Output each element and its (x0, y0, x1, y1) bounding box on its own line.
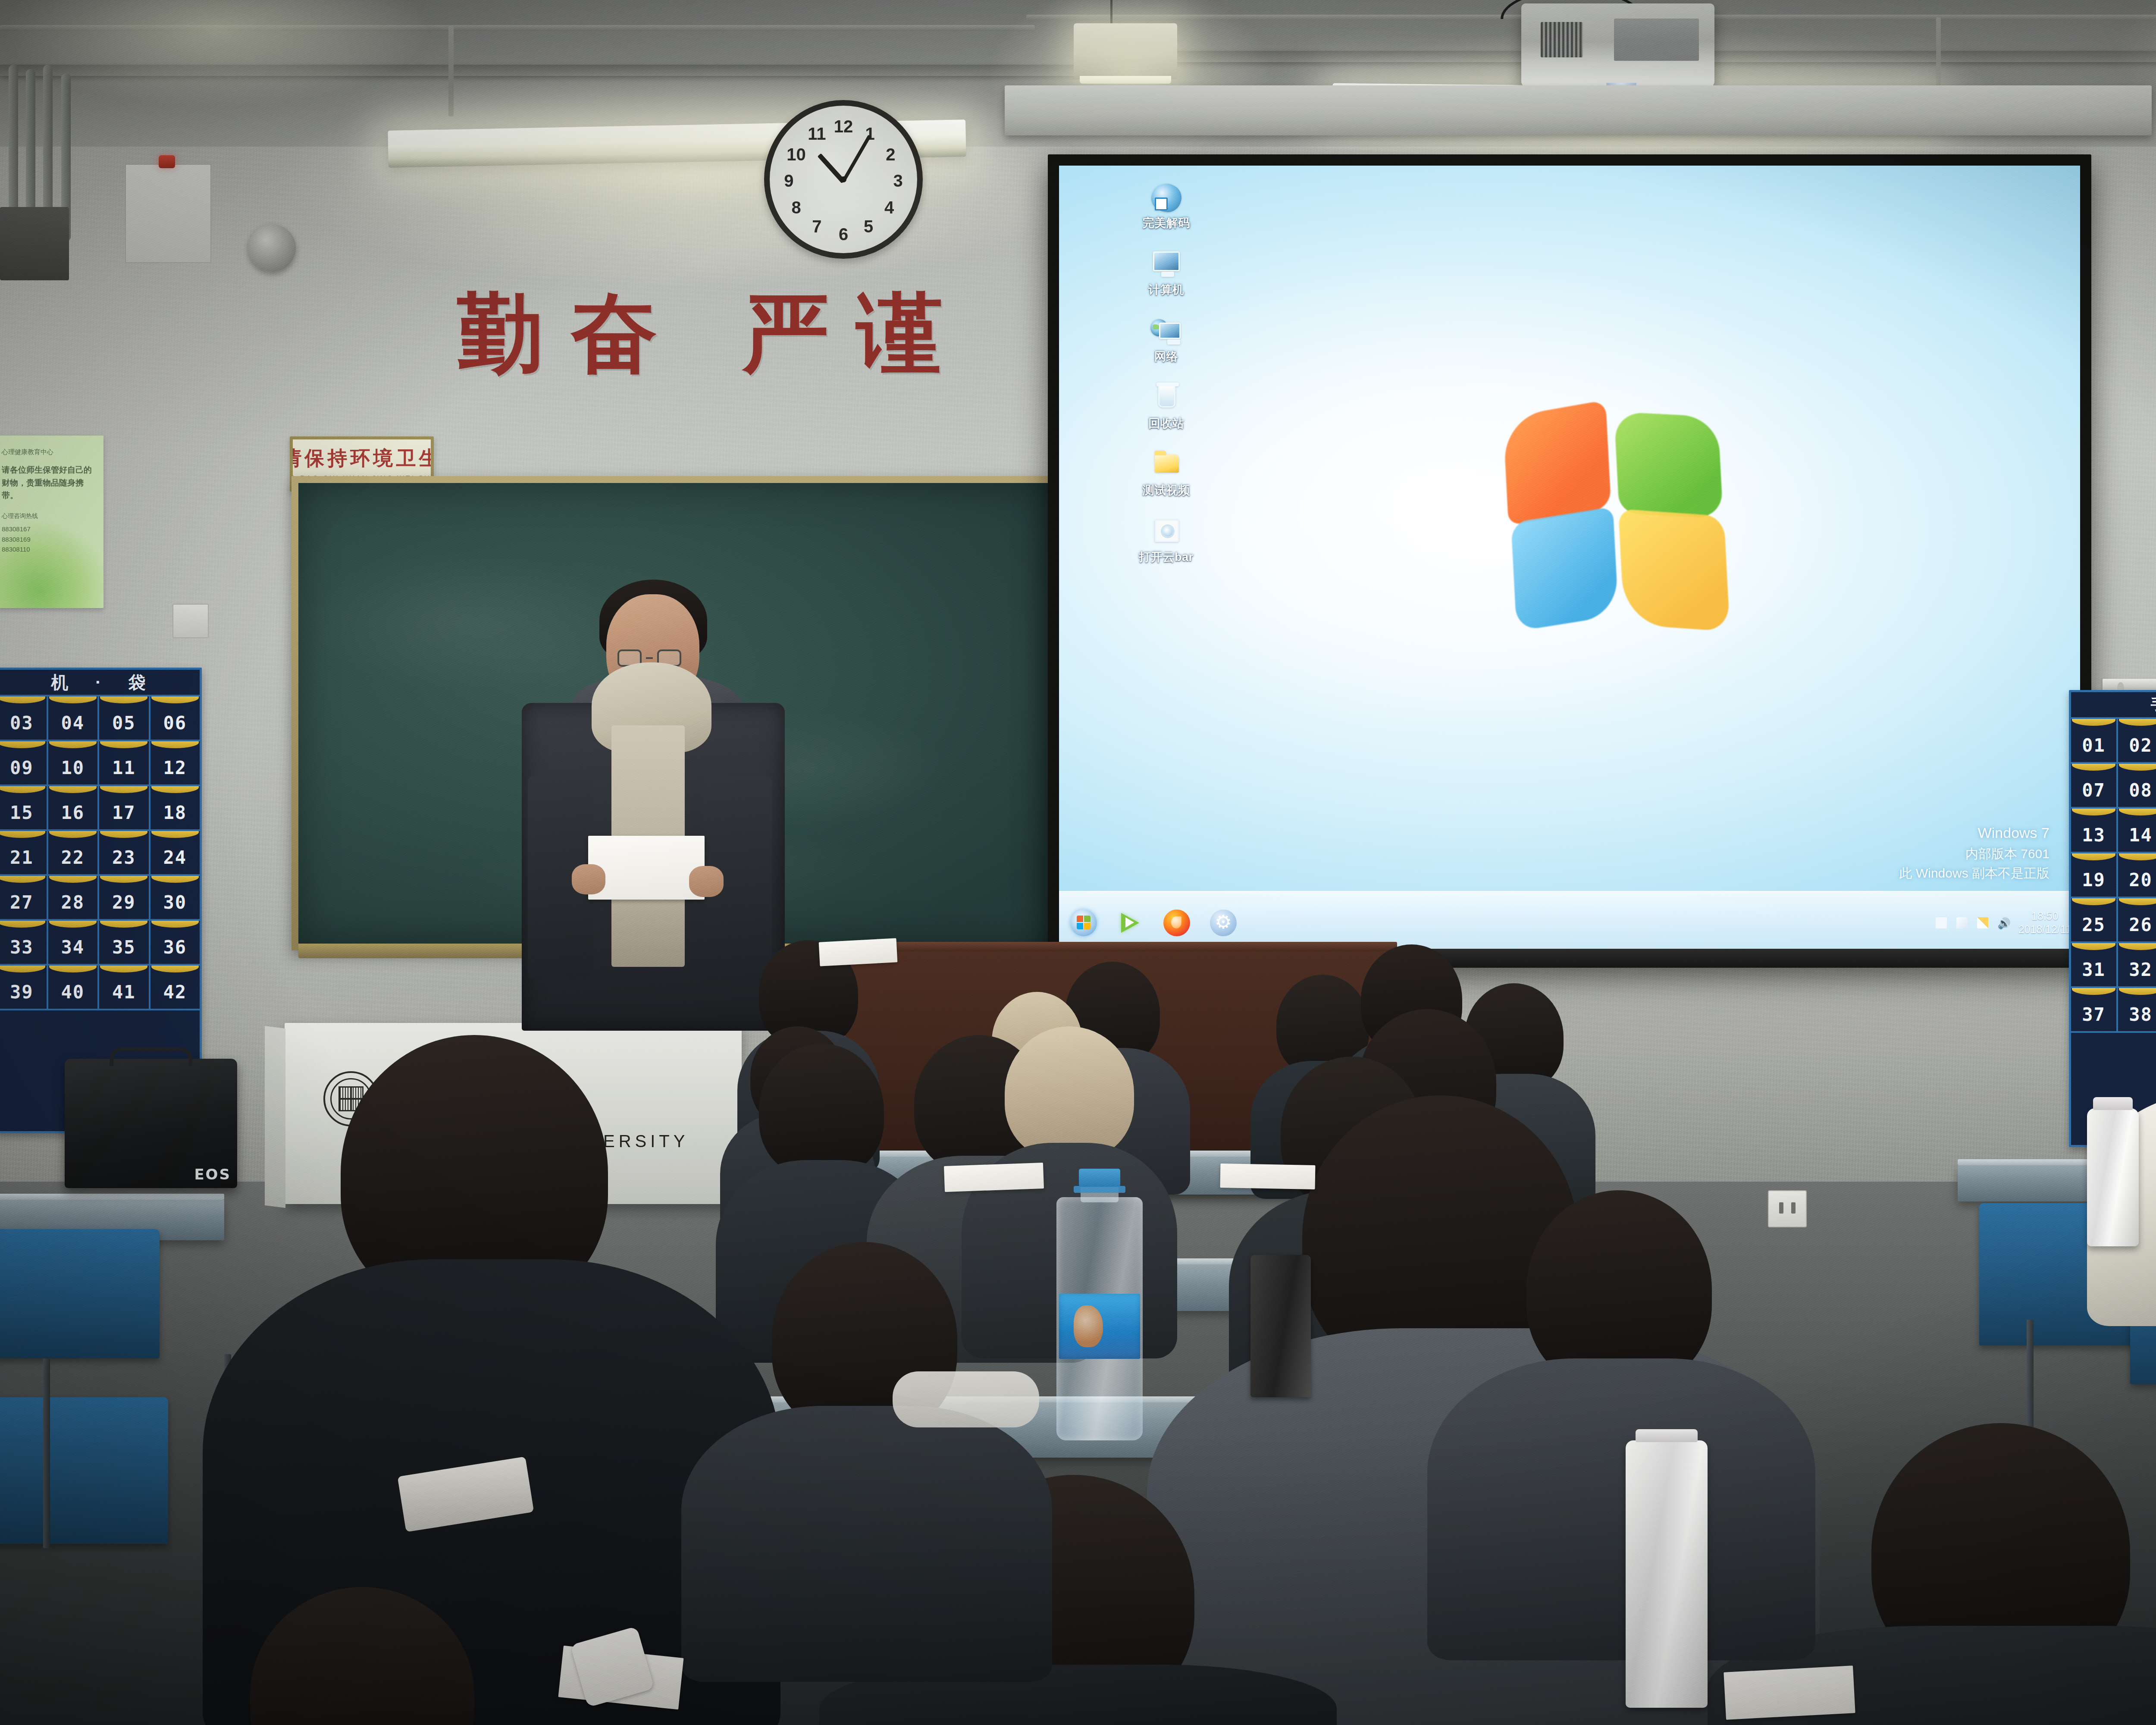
pocket-row: 15161718 (0, 786, 200, 831)
pocket-number: 27 (10, 892, 34, 913)
wall-junction-box (125, 164, 211, 263)
bottle-label (1059, 1294, 1140, 1359)
clock-num-8: 8 (791, 198, 801, 217)
camera-bag-brand: EOS (194, 1166, 231, 1183)
pendant-rod-left (1110, 0, 1112, 27)
phone-pocket[interactable]: 10 (48, 741, 100, 786)
pocket-number: 39 (10, 982, 34, 1003)
pocket-number: 33 (10, 937, 34, 958)
projection-screen-frame[interactable]: 完美解码 计算机 网络 回收站 (1048, 154, 2091, 965)
settings-gear-icon[interactable] (1210, 910, 1237, 936)
pocket-number: 31 (2082, 959, 2106, 980)
clock-num-12: 12 (834, 116, 853, 136)
desktop-icon-label: 打开云bar (1079, 551, 1253, 564)
clock-num-9: 9 (784, 171, 793, 191)
hygiene-sign-chinese: 请保持环境卫生 (290, 445, 434, 472)
pocket-number: 05 (112, 712, 136, 734)
phone-pocket[interactable]: 40 (48, 966, 100, 1010)
poster-phone-2: 88308169 (2, 534, 97, 544)
phone-pocket[interactable]: 08 (2118, 764, 2156, 809)
phone-pocket[interactable]: 20 (2118, 853, 2156, 898)
firefox-icon[interactable] (1163, 910, 1190, 936)
phone-pocket[interactable]: 19 (2071, 853, 2118, 898)
pocket-number: 01 (2082, 735, 2106, 756)
pocket-number: 34 (61, 937, 85, 958)
action-center-flag-icon[interactable] (1956, 917, 1968, 928)
phone-pocket[interactable]: 39 (0, 966, 48, 1010)
body (1427, 1358, 1815, 1660)
ceiling-conduit-a (0, 25, 1035, 31)
pocket-number: 02 (2129, 735, 2153, 756)
watermark-line-1: Windows 7 (1899, 822, 2049, 844)
pocket-number: 11 (112, 757, 136, 778)
pocket-number: 22 (61, 847, 85, 868)
taskbar-system-tray[interactable]: 18:50 2018/12/11 (1936, 910, 2080, 937)
wall-socket-plate-left (172, 604, 209, 638)
pocket-number: 19 (2082, 869, 2106, 891)
phone-pocket[interactable]: 42 (150, 966, 200, 1010)
pocket-row: 313233343536 (2071, 943, 2156, 988)
pocket-row: 09101112 (0, 741, 200, 786)
phone-pocket[interactable]: 30 (150, 876, 200, 921)
screen-valance (1005, 85, 2152, 135)
earphone-cable (893, 1371, 1039, 1427)
pocket-row: 252627282930 (2071, 898, 2156, 943)
watermark-line-3: 此 Windows 副本不是正版 (1899, 863, 2049, 883)
pocket-row: 03040506 (0, 696, 200, 741)
pocket-row: 131415161718 (2071, 809, 2156, 853)
app-shortcut-icon (1150, 517, 1183, 547)
paper-on-desk-a (944, 1163, 1044, 1192)
windows-desktop[interactable]: 完美解码 计算机 网络 回收站 (1059, 166, 2080, 954)
phone-pocket[interactable]: 11 (99, 741, 150, 786)
poster-body: 请各位师生保管好自己的财物，贵重物品随身携带。 (2, 464, 97, 502)
poster-phone-3: 88308110 (2, 544, 97, 554)
pocket-number: 04 (61, 712, 85, 734)
phone-pocket[interactable]: 18 (150, 786, 200, 831)
pocket-number: 17 (112, 802, 136, 823)
windows-logo-pane-green (1614, 411, 1723, 518)
pocket-number: 41 (112, 982, 136, 1003)
pocket-number: 10 (61, 757, 85, 778)
pocket-number: 06 (163, 712, 187, 734)
desktop-icon-column: 完美解码 计算机 网络 回收站 (1079, 183, 1253, 584)
phone-pocket[interactable]: 33 (0, 921, 48, 966)
phone-pocket[interactable]: 04 (48, 696, 100, 741)
ceiling-speaker (248, 224, 296, 272)
media-player-icon[interactable] (1117, 910, 1144, 936)
pocket-number: 32 (2129, 959, 2153, 980)
clock-num-5: 5 (864, 217, 873, 236)
phone-pocket[interactable]: 12 (150, 741, 200, 786)
pocket-number: 13 (2082, 825, 2106, 846)
pocket-row: 27282930 (0, 876, 200, 921)
phone-pocket[interactable]: 03 (0, 696, 48, 741)
desktop-icon-test-video-folder[interactable]: 测试视频 (1079, 450, 1253, 497)
phone-pocket[interactable]: 22 (48, 831, 100, 876)
pocket-row: 010203040506 (2071, 719, 2156, 764)
projector-port-panel (1614, 19, 1699, 61)
phone-pocket[interactable]: 26 (2118, 898, 2156, 943)
phone-pocket[interactable]: 07 (2071, 764, 2118, 809)
pocket-number: 23 (112, 847, 136, 868)
camera-bag: EOS (65, 1059, 237, 1188)
pocket-board-right-hook-rail (2103, 679, 2156, 691)
clock-time: 18:50 (2018, 910, 2071, 923)
clock-center-pin (840, 176, 846, 182)
pendant-light-left (1074, 23, 1177, 79)
phone-pocket[interactable]: 32 (2118, 943, 2156, 988)
head (1005, 1026, 1134, 1160)
phone-pocket[interactable]: 17 (99, 786, 150, 831)
thermos-bottle-front (1626, 1440, 1708, 1708)
bottle-cap (1079, 1169, 1120, 1187)
clock-num-3: 3 (893, 171, 903, 191)
wall-slogan: 勤奋 严谨 (457, 276, 970, 392)
chair-back-left-b (0, 1397, 168, 1544)
pocket-number: 36 (163, 937, 187, 958)
start-orb-icon[interactable] (1070, 910, 1097, 936)
audience-member-r1-right (1457, 1190, 1785, 1656)
water-bottle-center (1056, 1169, 1143, 1440)
pocket-board-right-rows: 0102030405060708091011121314151617181920… (2071, 719, 2156, 1033)
ceiling-beam-left (0, 65, 1078, 76)
desktop-icon-label: 回收站 (1079, 417, 1253, 430)
pocket-number: 16 (61, 802, 85, 823)
windows-logo (1502, 388, 1748, 650)
folder-icon (1150, 450, 1183, 480)
watermark-line-2: 内部版本 7601 (1899, 844, 2049, 863)
windows-logo-pane-yellow (1618, 509, 1730, 632)
pocket-board-left-rows: 0304050609101112151617182122232427282930… (0, 696, 200, 1010)
pocket-number: 28 (61, 892, 85, 913)
phone-pocket[interactable]: 06 (150, 696, 200, 741)
clock-num-10: 10 (787, 144, 806, 164)
phone-pocket[interactable]: 31 (2071, 943, 2118, 988)
poster-contact-label: 心理咨询热线 (2, 511, 97, 521)
volume-icon[interactable] (1998, 917, 2009, 928)
show-desktop-icon[interactable] (1936, 917, 1947, 928)
recycle-bin-icon (1150, 383, 1183, 414)
pocket-number: 37 (2082, 1004, 2106, 1025)
presenter-paper: white-paper-sheet (588, 836, 705, 900)
network-warning-icon[interactable] (1977, 917, 1988, 928)
bottle-ring (1074, 1186, 1125, 1193)
poster-heading: 心理健康教育中心 (2, 447, 97, 457)
pocket-row: 070809101112 (2071, 764, 2156, 809)
pocket-number: 21 (10, 847, 34, 868)
alarm-indicator-light (159, 155, 175, 168)
clock-num-11: 11 (808, 124, 826, 143)
phone-pocket[interactable]: 25 (2071, 898, 2118, 943)
paper-on-lectern (819, 938, 898, 966)
wall-clock: 12 1 2 3 4 5 6 7 8 9 10 11 (764, 100, 923, 259)
desk-leg-left-1 (43, 1358, 50, 1548)
clock-num-7: 7 (812, 217, 821, 236)
audience-member-bottom-left (164, 1587, 586, 1725)
pocket-number: 29 (112, 892, 136, 913)
desktop-icon-label: 计算机 (1079, 283, 1253, 297)
pocket-number: 03 (10, 712, 34, 734)
pocket-number: 26 (2129, 914, 2153, 935)
wall-duct-box (0, 207, 69, 280)
presenter-hand-left (572, 864, 605, 894)
phone-pocket[interactable]: 15 (0, 786, 48, 831)
pocket-number: 25 (2082, 914, 2106, 935)
body (681, 1406, 1052, 1682)
pocket-number: 42 (163, 982, 187, 1003)
phone-pocket[interactable]: 01 (2071, 719, 2118, 764)
clock-num-4: 4 (884, 198, 894, 217)
pocket-board-right-title: 手 · 机 · 袋 (2071, 692, 2156, 719)
dark-cup (1250, 1255, 1311, 1397)
phone-pocket[interactable]: 14 (2118, 809, 2156, 853)
pocket-number: 35 (112, 937, 136, 958)
pocket-board-left-title: 机 · 袋 (0, 670, 200, 696)
desktop-icon-computer[interactable]: 计算机 (1079, 250, 1253, 297)
pocket-number: 24 (163, 847, 187, 868)
taskbar-clock[interactable]: 18:50 2018/12/11 (2018, 910, 2071, 937)
phone-pocket[interactable]: 24 (150, 831, 200, 876)
pocket-number: 20 (2129, 869, 2153, 891)
computer-icon (1150, 250, 1183, 280)
teacher-desk-top (841, 942, 1397, 951)
phone-pocket[interactable]: 09 (0, 741, 48, 786)
poster-phone-1: 88308167 (2, 524, 97, 534)
phone-pocket[interactable]: 41 (99, 966, 150, 1010)
head (250, 1587, 474, 1725)
phone-pocket[interactable]: 35 (99, 921, 150, 966)
pocket-row: 21222324 (0, 831, 200, 876)
pocket-number: 09 (10, 757, 34, 778)
head (759, 1044, 884, 1177)
pocket-number: 30 (163, 892, 187, 913)
pocket-number: 40 (61, 982, 85, 1003)
pocket-number: 14 (2129, 825, 2153, 846)
chair-back-left-a (0, 1229, 160, 1358)
phone-pocket[interactable]: 02 (2118, 719, 2156, 764)
ceiling-projector (1521, 3, 1714, 88)
pocket-number: 18 (163, 802, 187, 823)
taskbar-quick-launch (1059, 910, 1237, 936)
desktop-icon-network[interactable]: 网络 (1079, 317, 1253, 364)
desktop-icon-media-player[interactable]: 完美解码 (1079, 183, 1253, 230)
paper-front-right (1724, 1665, 1855, 1720)
media-player-icon (1150, 183, 1183, 213)
phone-pocket[interactable]: 05 (99, 696, 150, 741)
clock-minute-hand (842, 135, 871, 182)
thermos-bottle-right (2087, 1108, 2139, 1246)
pocket-row: 39404142 (0, 966, 200, 1010)
pocket-number: 07 (2082, 780, 2106, 801)
phone-pocket[interactable]: 13 (2071, 809, 2118, 853)
windows-logo-pane-blue (1511, 507, 1619, 631)
network-icon (1150, 317, 1183, 347)
presenter-hand-right (689, 866, 724, 897)
phone-pocket[interactable]: 21 (0, 831, 48, 876)
phone-pocket[interactable]: 29 (99, 876, 150, 921)
phone-pocket[interactable]: 36 (150, 921, 200, 966)
classroom-photo: 勤奋 严谨 12 1 2 3 4 5 6 7 8 9 10 11 心理健康教育中… (0, 0, 2156, 1725)
green-notice-poster: 心理健康教育中心 请各位师生保管好自己的财物，贵重物品随身携带。 心理咨询热线 … (0, 436, 103, 608)
phone-pocket[interactable]: 27 (0, 876, 48, 921)
desktop-icon-label: 测试视频 (1079, 484, 1253, 497)
windows-activation-watermark: Windows 7 内部版本 7601 此 Windows 副本不是正版 (1899, 822, 2049, 883)
clock-num-6: 6 (839, 224, 848, 244)
paper-on-desk-b (1220, 1164, 1316, 1189)
desktop-icon-recycle-bin[interactable]: 回收站 (1079, 383, 1253, 430)
phone-pocket[interactable]: 23 (99, 831, 150, 876)
desktop-icon-label: 完美解码 (1079, 216, 1253, 230)
clock-num-2: 2 (886, 144, 895, 164)
windows-logo-pane-orange (1503, 400, 1611, 526)
pocket-row: 192021222324 (2071, 853, 2156, 898)
audience-member-r1-left (707, 1242, 1026, 1673)
projector-vent (1541, 22, 1583, 57)
pocket-number: 15 (10, 802, 34, 823)
desktop-icon-cloud-bar[interactable]: 打开云bar (1079, 517, 1253, 564)
phone-pocket[interactable]: 34 (48, 921, 100, 966)
desktop-icon-label: 网络 (1079, 350, 1253, 364)
glasses-bridge (646, 657, 653, 659)
pocket-number: 12 (163, 757, 187, 778)
clock-date: 2018/12/11 (2018, 923, 2071, 936)
pocket-row: 33343536 (0, 921, 200, 966)
phone-pocket[interactable]: 16 (48, 786, 100, 831)
pocket-number: 08 (2129, 780, 2153, 801)
phone-pocket[interactable]: 28 (48, 876, 100, 921)
wall-conduit-vertical (448, 26, 454, 116)
